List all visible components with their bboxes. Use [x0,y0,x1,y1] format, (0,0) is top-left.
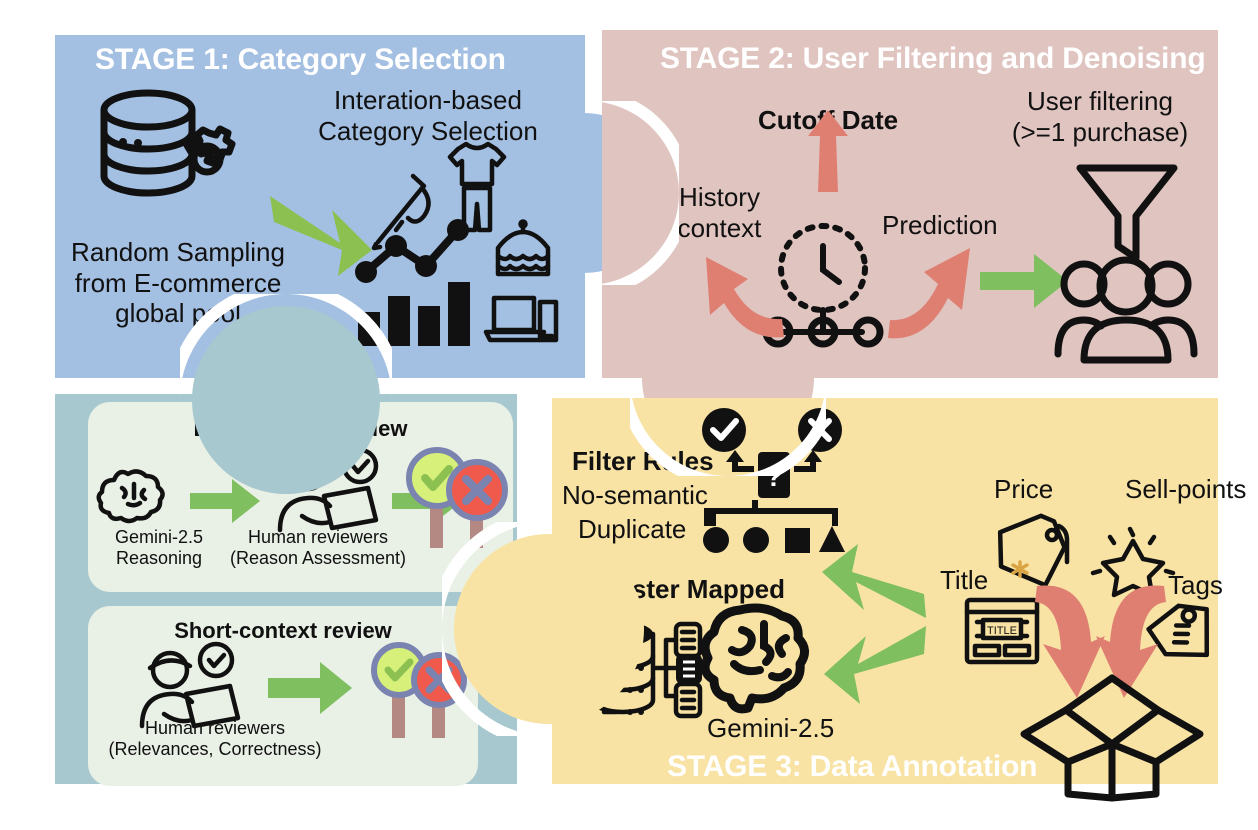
bar-chart-line-icon [352,220,472,348]
stage-2-prediction-label: Prediction [882,210,998,241]
open-box-icon [1018,652,1206,802]
svg-text:TITLE: TITLE [987,625,1017,637]
funnel-icon [1072,158,1182,268]
database-gear-icon [90,80,235,225]
stage-2-title: STAGE 2: User Filtering and Denoising [660,42,1205,76]
red-arrow-right-icon [886,238,978,346]
brain-icon [98,466,172,520]
stage-3-filter-rule-1: No-semantic [562,480,708,511]
diagram-canvas: STAGE 1: Category Selection Random Sampl… [0,0,1258,830]
stage-3-model-label: Gemini-2.5 [707,713,834,744]
stage-3-field-label-sell-points: Sell-points [1125,474,1246,505]
cake-slice-icon [488,222,558,282]
reviewer-icon-2 [134,644,244,728]
short-context-arrow-icon [268,660,354,716]
stage-3-filter-rule-2: Duplicate [578,514,686,545]
stage-3-field-label-title: Title [940,565,988,596]
stage-2-user-filter-label: User filtering (>=1 purchase) [985,86,1215,147]
long-context-left-caption: Gemini-2.5 Reasoning [96,527,222,569]
stage-3-green-arrow-down-icon [818,618,928,712]
stage-1-title: STAGE 1: Category Selection [95,43,506,77]
stage-1-right-caption: Interation-based Category Selection [283,85,573,146]
stage-3-field-label-tags: Tags [1168,570,1223,601]
stage-3-title: STAGE 3: Data Annotation [667,750,1037,784]
laptop-phone-icon [484,290,562,352]
approve-reject-markers-icon-1 [396,446,504,556]
stage-3-green-arrow-up-icon [818,540,928,626]
stage-3-field-label-price: Price [994,474,1053,505]
users-group-icon [1056,254,1196,364]
gemini-brain-icon [702,602,820,714]
red-arrow-up-icon [806,110,850,192]
red-arrow-left-icon [700,245,784,345]
